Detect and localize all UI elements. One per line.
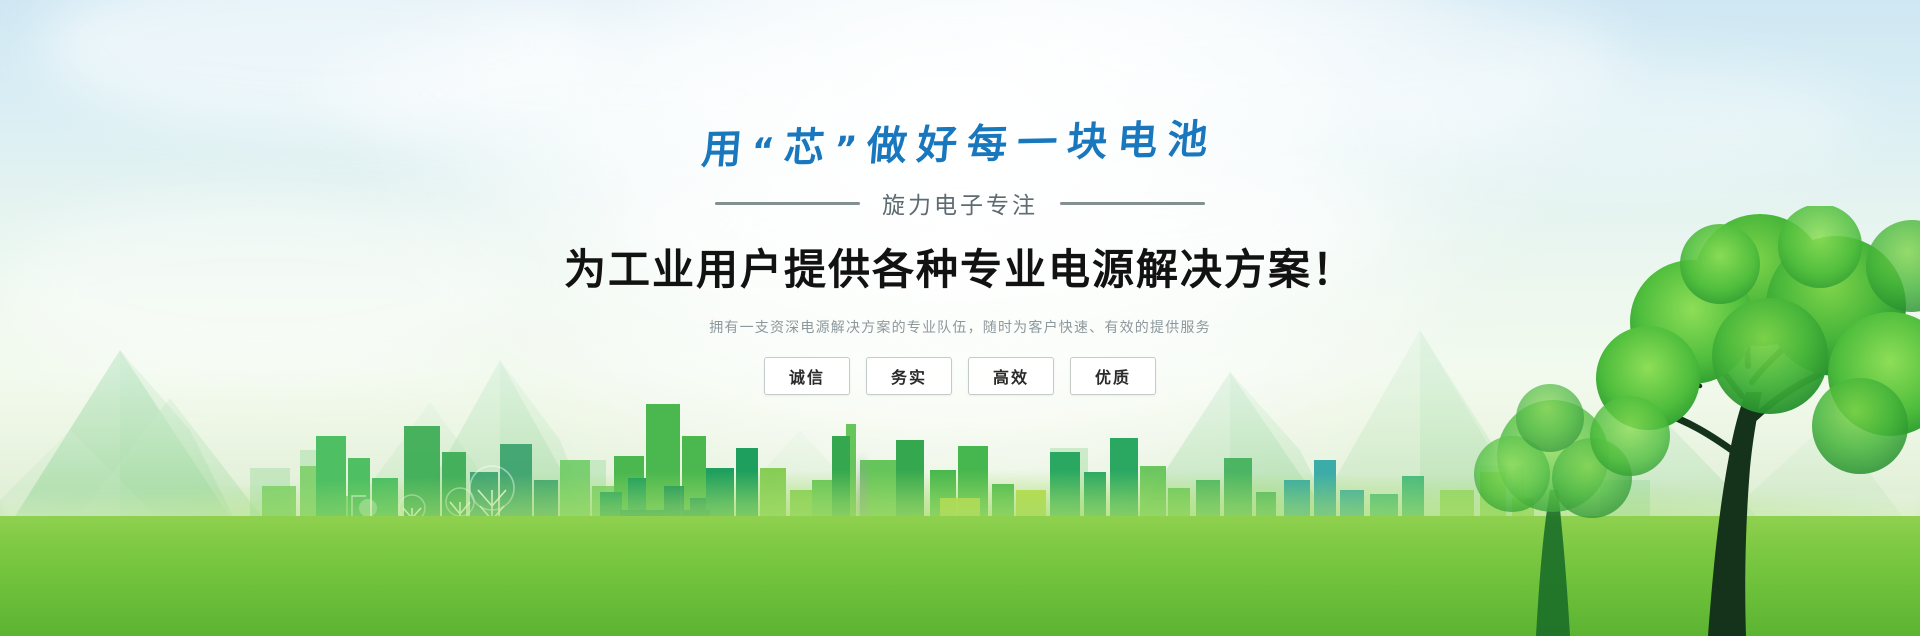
calligraphy-pre: 用 [700,125,754,173]
quote-close: ” [833,129,869,170]
divider-label: 旋力电子专注 [882,186,1038,220]
calligraphy-slogan: 用“芯”做好每一块电池 [0,92,1920,190]
calligraphy-keyword: 芯 [782,124,836,172]
quote-open: “ [750,131,786,172]
calligraphy-post: 做好每一块电池 [865,116,1220,170]
divider-line-right [1060,202,1205,205]
hero-banner: 用“芯”做好每一块电池 旋力电子专注 为工业用户提供各种专业电源解决方案！ 拥有… [0,0,1920,636]
foreground-trees [1300,206,1920,636]
divider-line-left [715,202,860,205]
